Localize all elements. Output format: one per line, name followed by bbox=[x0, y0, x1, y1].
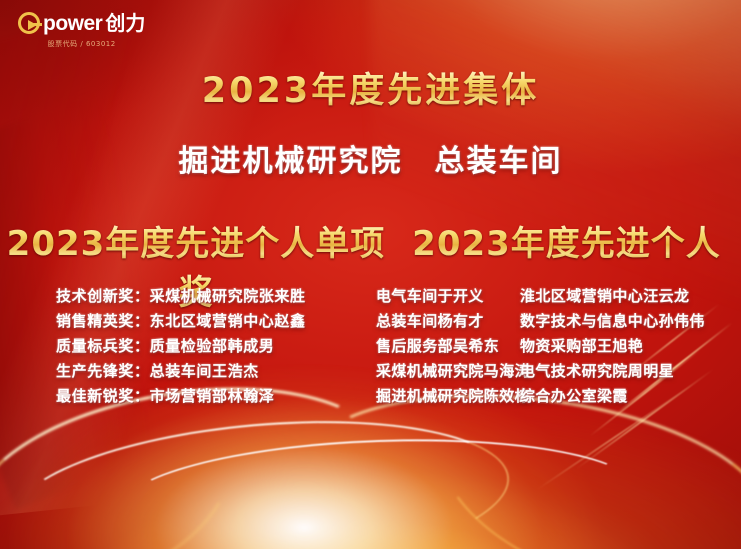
list-item: 电气车间于开义 淮北区域营销中心汪云龙 bbox=[370, 284, 741, 309]
individual-name-left: 采煤机械研究院马海涛 bbox=[370, 359, 520, 384]
individual-name-left: 售后服务部吴希东 bbox=[370, 334, 520, 359]
individual-award-list: 电气车间于开义 淮北区域营销中心汪云龙 总装车间杨有才 数字技术与信息中心孙伟伟… bbox=[370, 284, 741, 409]
individual-name-right: 电气技术研究院周明星 bbox=[520, 359, 735, 384]
page-title-text: 2023年度先进集体 bbox=[202, 71, 539, 111]
list-item: 售后服务部吴希东 物资采购部王旭艳 bbox=[370, 334, 741, 359]
list-item: 最佳新锐奖：市场营销部林翰泽 bbox=[56, 384, 370, 409]
stock-code-label: 股票代码 / 603012 bbox=[48, 39, 116, 49]
company-logo: power 创力 股票代码 / 603012 bbox=[18, 12, 145, 49]
logo-lockup: power 创力 bbox=[18, 12, 145, 34]
award-poster: power 创力 股票代码 / 603012 2023年度先进集体 掘进机械研究… bbox=[0, 0, 741, 549]
individual-name-left: 掘进机械研究院陈效栋 bbox=[370, 384, 520, 409]
page-title: 2023年度先进集体 bbox=[0, 62, 741, 113]
power-c-icon bbox=[18, 12, 40, 34]
heading-right-text: 2023年度先进个人 bbox=[412, 224, 721, 264]
individual-name-right: 物资采购部王旭艳 bbox=[520, 334, 735, 359]
list-item: 总装车间杨有才 数字技术与信息中心孙伟伟 bbox=[370, 309, 741, 334]
award-lists: 技术创新奖：采煤机械研究院张来胜 销售精英奖：东北区域营销中心赵鑫 质量标兵奖：… bbox=[0, 284, 741, 409]
list-item: 质量标兵奖：质量检验部韩成男 bbox=[56, 334, 370, 359]
page-subtitle: 掘进机械研究院 总装车间 bbox=[0, 136, 741, 180]
individual-name-right: 数字技术与信息中心孙伟伟 bbox=[520, 309, 735, 334]
individual-name-left: 电气车间于开义 bbox=[370, 284, 520, 309]
list-item: 技术创新奖：采煤机械研究院张来胜 bbox=[56, 284, 370, 309]
list-item: 采煤机械研究院马海涛 电气技术研究院周明星 bbox=[370, 359, 741, 384]
list-item: 销售精英奖：东北区域营销中心赵鑫 bbox=[56, 309, 370, 334]
page-subtitle-text: 掘进机械研究院 总装车间 bbox=[179, 144, 563, 179]
list-item: 生产先锋奖：总装车间王浩杰 bbox=[56, 359, 370, 384]
special-award-list: 技术创新奖：采煤机械研究院张来胜 销售精英奖：东北区域营销中心赵鑫 质量标兵奖：… bbox=[0, 284, 370, 409]
logo-wordmark: power bbox=[43, 13, 102, 34]
individual-name-left: 总装车间杨有才 bbox=[370, 309, 520, 334]
individual-name-right: 淮北区域营销中心汪云龙 bbox=[520, 284, 735, 309]
list-item: 掘进机械研究院陈效栋 综合办公室梁霞 bbox=[370, 384, 741, 409]
logo-wordmark-cn: 创力 bbox=[105, 13, 145, 33]
individual-name-right: 综合办公室梁霞 bbox=[520, 384, 735, 409]
